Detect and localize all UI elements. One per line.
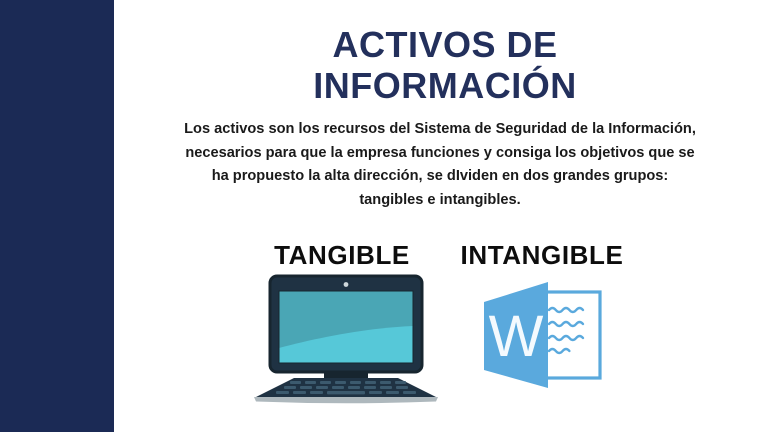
column-heading-tangible: TANGIBLE [262,240,422,271]
body-paragraph: Los activos son los recursos del Sistema… [178,118,702,213]
page-title: ACTIVOS DE INFORMACIÓN [190,24,700,106]
column-heading-intangible: INTANGIBLE [446,240,638,271]
word-document-icon: W [478,280,624,392]
laptop-icon [246,276,446,400]
page-title-line-2: INFORMACIÓN [190,65,700,106]
word-letter-w: W [489,304,544,369]
slide-canvas: ACTIVOS DE INFORMACIÓN Los activos son l… [0,0,768,432]
page-title-line-1: ACTIVOS DE [190,24,700,65]
accent-band [0,0,114,432]
